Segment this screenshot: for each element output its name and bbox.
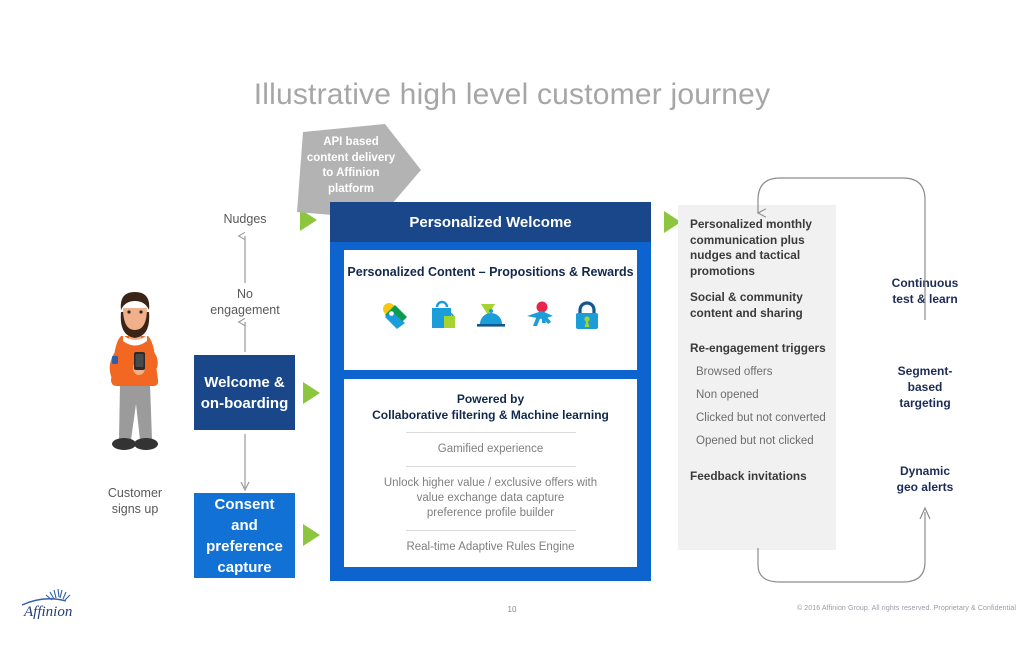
panel-header: Personalized Welcome [330,202,651,242]
green-arrow-right-icon [303,382,320,404]
card-divider [406,466,576,467]
trigger-item: Non opened [678,388,836,403]
segment-line3: targeting [870,395,980,411]
social-community-heading: Social & community content and sharing [678,290,836,321]
arrowhead-down [241,482,249,490]
customer-caption-line1: Customer [70,485,200,501]
powered-title-line2: Collaborative filtering & Machine learni… [362,407,619,423]
continuous-test-learn-label: Continuous test & learn [870,275,980,307]
engagement-panel: Personalized monthly communication plus … [678,205,836,550]
benefit-icon-row [344,299,637,333]
no-engagement-line2: engagement [190,302,300,318]
monthly-line3: nudges and tactical [690,248,830,264]
dynamic-line1: Dynamic [870,463,980,479]
powered-row-unlock: Unlock higher value / exclusive offers w… [362,476,619,521]
trigger-item: Clicked but not converted [678,411,836,426]
slide-canvas: Illustrative high level customer journey [0,0,1024,670]
feedback-invitations-heading: Feedback invitations [678,469,836,485]
security-lock-icon [570,299,604,333]
green-arrow-right-icon [303,524,320,546]
spacer [678,321,836,341]
powered-row-rules-engine: Real-time Adaptive Rules Engine [362,540,619,555]
powered-by-card: Powered by Collaborative filtering & Mac… [344,379,637,567]
trigger-item: Browsed offers [678,365,836,380]
monthly-line4: promotions [690,264,830,280]
affinion-logo: Affinion [14,586,106,620]
card-divider [406,530,576,531]
travel-person-icon [522,299,556,333]
welcome-box-line1: Welcome & [201,372,288,393]
welcome-box-line2: on-boarding [201,393,288,414]
personalized-monthly-heading: Personalized monthly communication plus … [678,217,836,279]
api-callout-line2: content delivery [297,151,405,167]
consent-box-line2: and [206,515,283,536]
personalized-welcome-panel: Personalized Welcome Personalized Conten… [330,202,651,581]
consent-preference-capture-box[interactable]: Consent and preference capture [194,493,295,578]
card-divider [406,432,576,433]
dynamic-line2: geo alerts [870,479,980,495]
copyright-notice: © 2016 Affinion Group. All rights reserv… [797,605,1016,612]
shopping-bag-icon [426,299,460,333]
re-engagement-triggers-heading: Re-engagement triggers [678,341,836,357]
page-title: Illustrative high level customer journey [0,78,1024,112]
dynamic-geo-alerts-label: Dynamic geo alerts [870,463,980,495]
segment-based-targeting-label: Segment- based targeting [870,363,980,411]
social-line2: content and sharing [690,306,830,322]
continuous-line2: test & learn [870,291,980,307]
monthly-line2: communication plus [690,233,830,249]
consent-box-line1: Consent [206,494,283,515]
api-callout-line4: platform [297,182,405,198]
segment-line2: based [870,379,980,395]
spacer [678,449,836,469]
consent-box-line4: capture [206,557,283,578]
social-line1: Social & community [690,290,830,306]
powered-row-gamified: Gamified experience [362,442,619,457]
segment-line1: Segment- [870,363,980,379]
tags-discount-icon [378,299,412,333]
customer-caption-line2: signs up [70,501,200,517]
dining-cloche-icon [474,299,508,333]
api-callout-text: API based content delivery to Affinion p… [297,135,405,197]
unlock-line3: preference profile builder [362,506,619,521]
trigger-item: Opened but not clicked [678,434,836,449]
consent-box-line3: preference [206,536,283,557]
monthly-line1: Personalized monthly [690,217,830,233]
api-callout-line3: to Affinion [297,166,405,182]
spacer [678,279,836,290]
unlock-line1: Unlock higher value / exclusive offers w… [362,476,619,491]
customer-illustration [95,288,175,470]
powered-title-line1: Powered by [362,391,619,407]
no-engagement-line1: No [190,286,300,302]
powered-by-title: Powered by Collaborative filtering & Mac… [362,391,619,423]
content-card-title: Personalized Content – Propositions & Re… [344,265,637,279]
personalized-content-card: Personalized Content – Propositions & Re… [344,250,637,370]
nudges-label: Nudges [190,212,300,226]
unlock-line2: value exchange data capture [362,491,619,506]
arrowhead-up [920,508,930,519]
continuous-line1: Continuous [870,275,980,291]
customer-caption: Customer signs up [70,485,200,517]
api-callout-line1: API based [297,135,405,151]
welcome-onboarding-box[interactable]: Welcome & on-boarding [194,355,295,430]
no-engagement-label: No engagement [190,286,300,318]
